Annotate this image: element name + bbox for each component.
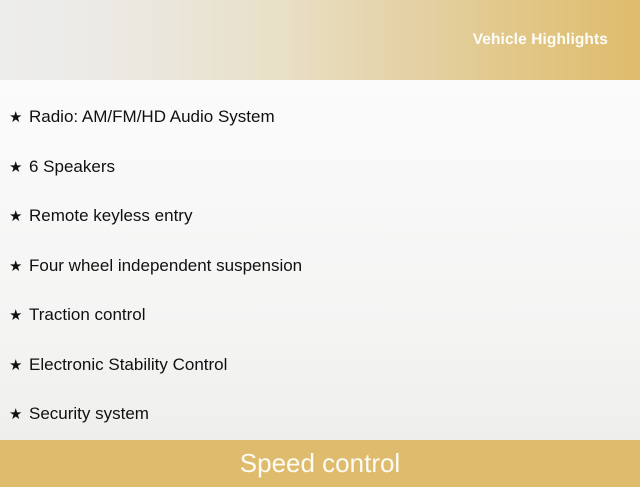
list-item: ★ 6 Speakers bbox=[0, 143, 640, 193]
list-item: ★ Four wheel independent suspension bbox=[0, 242, 640, 292]
vehicle-highlights-panel: Vehicle Highlights ★ Radio: AM/FM/HD Aud… bbox=[0, 0, 640, 480]
feature-label: Traction control bbox=[29, 306, 146, 325]
feature-list: ★ Radio: AM/FM/HD Audio System ★ 6 Speak… bbox=[0, 93, 640, 440]
page-title: Vehicle Highlights bbox=[473, 31, 640, 49]
star-icon: ★ bbox=[9, 110, 29, 125]
feature-label: 6 Speakers bbox=[29, 158, 115, 177]
header-band: Vehicle Highlights bbox=[0, 0, 640, 80]
star-icon: ★ bbox=[9, 259, 29, 274]
feature-label: Four wheel independent suspension bbox=[29, 257, 302, 276]
star-icon: ★ bbox=[9, 209, 29, 224]
footer-title: Speed control bbox=[240, 450, 400, 476]
feature-label: Security system bbox=[29, 405, 149, 424]
list-item: ★ Traction control bbox=[0, 291, 640, 341]
feature-label: Electronic Stability Control bbox=[29, 356, 227, 375]
list-item: ★ Radio: AM/FM/HD Audio System bbox=[0, 93, 640, 143]
star-icon: ★ bbox=[9, 308, 29, 323]
features-section: ★ Radio: AM/FM/HD Audio System ★ 6 Speak… bbox=[0, 80, 640, 440]
feature-label: Radio: AM/FM/HD Audio System bbox=[29, 108, 275, 127]
footer-band: Speed control bbox=[0, 440, 640, 487]
feature-label: Remote keyless entry bbox=[29, 207, 192, 226]
list-item: ★ Remote keyless entry bbox=[0, 192, 640, 242]
star-icon: ★ bbox=[9, 160, 29, 175]
list-item: ★ Security system bbox=[0, 390, 640, 440]
star-icon: ★ bbox=[9, 358, 29, 373]
star-icon: ★ bbox=[9, 407, 29, 422]
list-item: ★ Electronic Stability Control bbox=[0, 341, 640, 391]
